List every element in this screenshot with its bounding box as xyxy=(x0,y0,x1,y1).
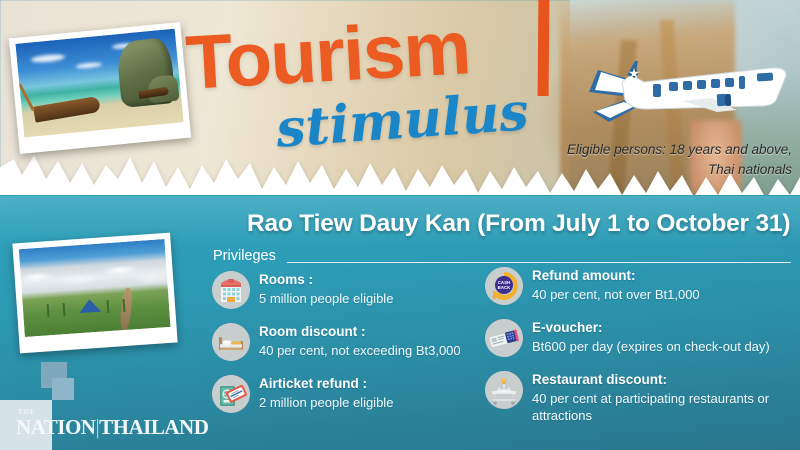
tent-shape xyxy=(78,299,101,314)
beach-longtail-boat-photo xyxy=(9,22,191,154)
privilege-item-airticket-refund: Airticket refund : 2 million people elig… xyxy=(212,374,482,413)
passport-ticket-icon xyxy=(212,375,250,413)
privilege-item-rooms: Rooms : 5 million people eligible xyxy=(212,270,482,309)
privilege-text: Airticket refund : 2 million people elig… xyxy=(259,374,393,411)
voucher-ticket-icon xyxy=(485,319,523,357)
logo-wordmark: NATION|THAILAND xyxy=(16,415,208,440)
privilege-desc: 5 million people eligible xyxy=(259,290,393,307)
privilege-title: Refund amount: xyxy=(532,267,700,285)
privilege-title: Room discount : xyxy=(259,323,461,341)
privilege-text: Refund amount: 40 per cent, not over Bt1… xyxy=(532,266,700,303)
cash-back-icon: CASH BACK xyxy=(485,267,523,305)
privileges-divider-line xyxy=(287,262,791,263)
nation-thailand-logo[interactable]: THE NATION|THAILAND xyxy=(0,356,200,450)
privilege-item-room-discount: Room discount : 40 per cent, not exceedi… xyxy=(212,322,482,361)
privileges-column-right: CASH BACK Refund amount: 40 per cent, no… xyxy=(485,266,800,437)
privilege-item-refund-amount: CASH BACK Refund amount: 40 per cent, no… xyxy=(485,266,800,305)
privilege-desc: 40 per cent, not exceeding Bt3,000 xyxy=(259,342,461,359)
privilege-text: Room discount : 40 per cent, not exceedi… xyxy=(259,322,461,359)
dining-cart-icon xyxy=(485,371,523,409)
privilege-title: Restaurant discount: xyxy=(532,371,800,389)
infographic-canvas: Tourism stimulus xyxy=(0,0,800,450)
privilege-text: Restaurant discount: 40 per cent at part… xyxy=(532,370,800,424)
privileges-label: Privileges xyxy=(213,248,276,264)
privileges-column-left: Rooms : 5 million people eligible Room d… xyxy=(212,270,482,426)
privilege-desc: 40 per cent, not over Bt1,000 xyxy=(532,286,700,303)
privilege-title: Airticket refund : xyxy=(259,375,393,393)
logo-block-lower xyxy=(52,378,74,400)
privilege-item-evoucher: E-voucher: Bt600 per day (expires on che… xyxy=(485,318,800,357)
hotel-building-icon xyxy=(212,271,250,309)
privilege-text: E-voucher: Bt600 per day (expires on che… xyxy=(532,318,770,355)
privilege-title: Rooms : xyxy=(259,271,393,289)
logo-thailand-text: THAILAND xyxy=(99,415,208,439)
privilege-title: E-voucher: xyxy=(532,319,770,337)
logo-nation-text: NATION xyxy=(16,415,95,439)
svg-text:BACK: BACK xyxy=(498,285,512,290)
title-block: Tourism stimulus xyxy=(186,12,616,157)
mountain-camping-photo xyxy=(12,233,177,354)
airplane-icon xyxy=(565,48,795,136)
privilege-text: Rooms : 5 million people eligible xyxy=(259,270,393,307)
privileges-header: Privileges xyxy=(213,248,791,268)
privilege-desc: Bt600 per day (expires on check-out day) xyxy=(532,338,770,355)
bed-icon xyxy=(212,323,250,361)
campaign-headline: Rao Tiew Dauy Kan (From July 1 to Octobe… xyxy=(247,210,790,238)
privilege-desc: 2 million people eligible xyxy=(259,394,393,411)
privilege-desc: 40 per cent at participating restaurants… xyxy=(532,390,800,424)
privilege-item-restaurant-discount: Restaurant discount: 40 per cent at part… xyxy=(485,370,800,424)
